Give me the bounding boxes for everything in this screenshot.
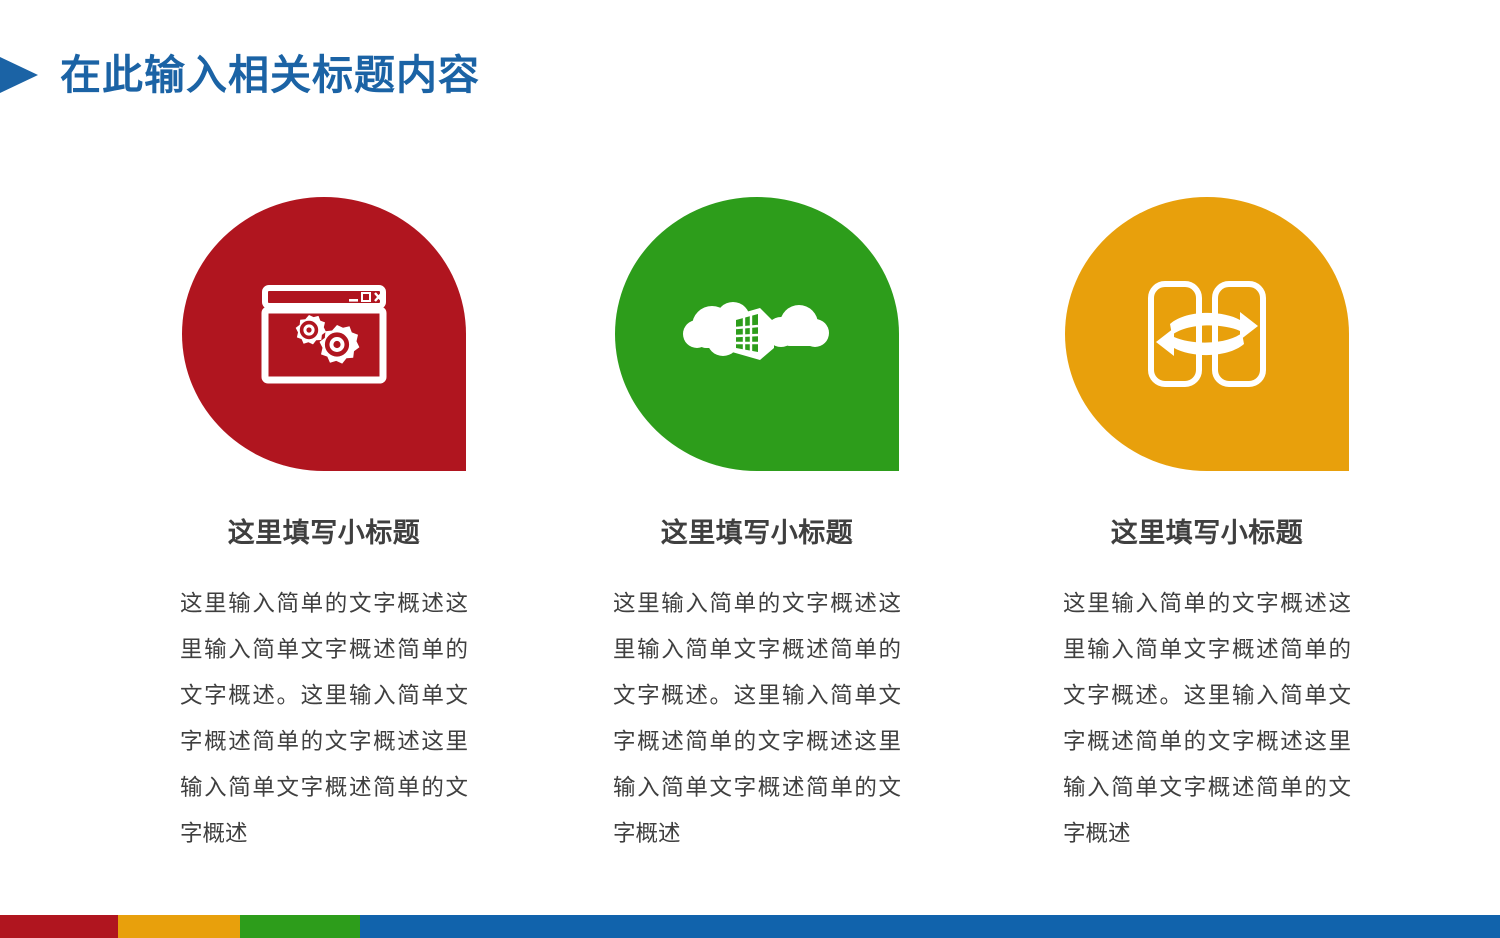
play-triangle-icon [0,54,42,96]
feature-column-1: 这里填写小标题 这里输入简单的文字概述这里输入简单文字概述简单的文字概述。这里输… [159,197,489,857]
feature-body-3: 这里输入简单的文字概述这里输入简单文字概述简单的文字概述。这里输入简单文字概述简… [1063,581,1351,857]
page-title: 在此输入相关标题内容 [60,55,480,96]
badge-wrap-1 [159,197,489,471]
bar-segment-green [240,915,360,938]
teardrop-badge-1[interactable] [182,197,466,471]
feature-body-1: 这里输入简单的文字概述这里输入简单文字概述简单的文字概述。这里输入简单文字概述简… [180,581,468,857]
browser-window-gears-icon [261,284,387,384]
feature-column-2: 这里填写小标题 这里输入简单的文字概述这里输入简单文字概述简单的文字概述。这里输… [592,197,922,857]
bottom-color-bar [0,915,1500,938]
cloud-sync-server-icon [682,288,832,380]
badge-wrap-3 [1042,197,1372,471]
page-title-row: 在此输入相关标题内容 [0,44,480,106]
data-exchange-arrows-icon [1146,278,1268,390]
bar-segment-red [0,915,118,938]
bar-segment-blue [360,915,1500,938]
teardrop-badge-2[interactable] [615,197,899,471]
feature-subtitle-3: 这里填写小标题 [1042,519,1372,549]
feature-body-2: 这里输入简单的文字概述这里输入简单文字概述简单的文字概述。这里输入简单文字概述简… [613,581,901,857]
feature-subtitle-1: 这里填写小标题 [159,519,489,549]
feature-column-3: 这里填写小标题 这里输入简单的文字概述这里输入简单文字概述简单的文字概述。这里输… [1042,197,1372,857]
badge-wrap-2 [592,197,922,471]
teardrop-badge-3[interactable] [1065,197,1349,471]
feature-subtitle-2: 这里填写小标题 [592,519,922,549]
bar-segment-orange [118,915,240,938]
